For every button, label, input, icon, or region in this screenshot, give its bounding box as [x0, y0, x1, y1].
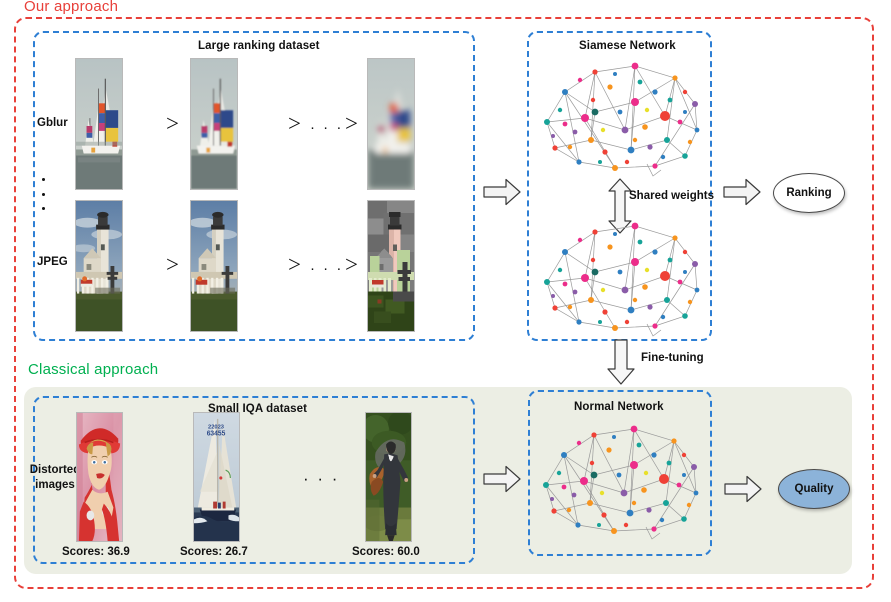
row-label-gblur: Gblur [37, 117, 68, 129]
thumbnail-lighthouse-jpeg-heavy [367, 200, 415, 332]
thumbnail-woman-dark-dress [365, 412, 412, 542]
ranking-output-node: Ranking [773, 173, 845, 213]
arrow-network-to-quality [724, 475, 762, 503]
fine-tuning-arrow [606, 339, 636, 385]
row-label-jpeg: JPEG [37, 256, 68, 268]
vertical-ellipsis-icon [39, 178, 47, 210]
large-ranking-dataset-caption: Large ranking dataset [198, 40, 320, 52]
quality-output-label: Quality [795, 483, 834, 495]
score-label-3: Scores: 60.0 [352, 546, 420, 558]
ranking-ellipsis-icon: · · · [310, 261, 343, 276]
brain-network-icon [535, 212, 707, 340]
ranking-separator-gt: > [288, 253, 301, 276]
thumbnail-sailboats-blur-1 [190, 58, 238, 190]
arrow-siamese-to-ranking [723, 178, 761, 206]
distorted-images-label: Distorted images [29, 463, 81, 493]
ranking-ellipsis-icon: · · · [310, 120, 343, 135]
our-approach-title: Our approach [24, 0, 118, 15]
score-label-1: Scores: 36.9 [62, 546, 130, 558]
shared-weights-label: Shared weights [629, 190, 714, 202]
thumbnail-lighthouse-jpeg-1 [190, 200, 238, 332]
thumbnail-sailboat-regatta: 22023 63455 [193, 412, 240, 542]
siamese-network-caption: Siamese Network [579, 40, 676, 52]
classical-approach-title: Classical approach [28, 361, 158, 378]
ranking-output-label: Ranking [786, 187, 831, 199]
quality-output-node: Quality [778, 469, 850, 509]
arrow-iqa-to-normal-network [483, 465, 521, 493]
thumbnail-lighthouse-sharp [75, 200, 123, 332]
thumbnail-sailboats-sharp [75, 58, 123, 190]
figure-canvas: Our approach Classical approach Large ra… [0, 0, 891, 602]
brain-network-icon [535, 52, 707, 180]
fine-tuning-label: Fine-tuning [641, 352, 704, 364]
thumbnail-woman-red-hat [76, 412, 123, 542]
brain-network-icon [534, 415, 706, 543]
ranking-separator-gt: > [345, 112, 358, 135]
thumbnail-sailboats-blur-heavy [367, 58, 415, 190]
normal-network-caption: Normal Network [574, 401, 664, 413]
score-label-2: Scores: 26.7 [180, 546, 248, 558]
ranking-separator-gt: > [288, 112, 301, 135]
svg-text:63455: 63455 [207, 431, 226, 438]
arrow-dataset-to-siamese [483, 178, 521, 206]
ranking-separator-gt: > [345, 253, 358, 276]
ranking-separator-gt: > [166, 112, 179, 135]
ranking-separator-gt: > [166, 253, 179, 276]
iqa-ellipsis-icon: · · · [303, 470, 339, 487]
